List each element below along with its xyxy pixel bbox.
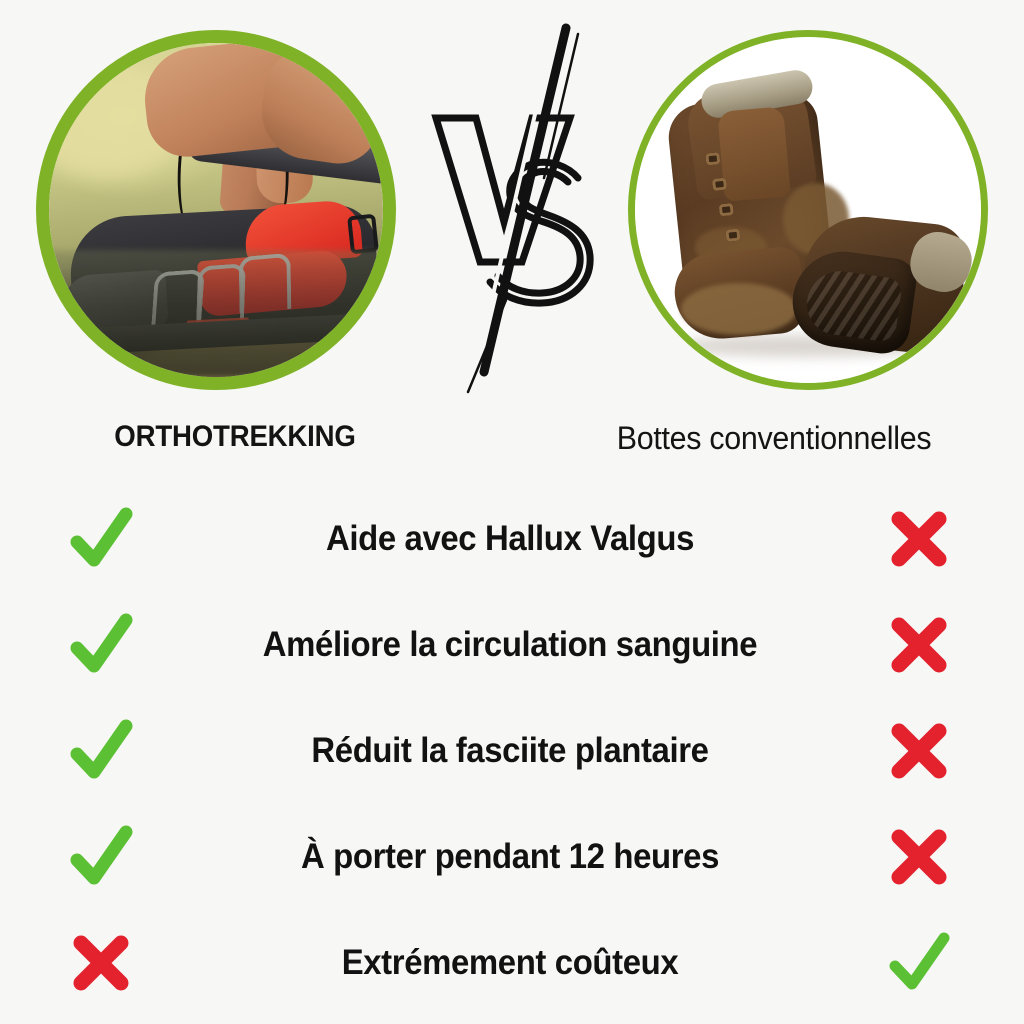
right-mark-cross-icon (876, 496, 962, 582)
table-row: Améliore la circulation sanguine (0, 592, 1024, 698)
right-product-image (628, 30, 988, 390)
left-product-image (36, 30, 396, 390)
left-image-green-ring (36, 30, 396, 390)
table-row: Aide avec Hallux Valgus (0, 486, 1024, 592)
comparison-infographic: ORTHOTREKKING Bottes conventionnelles Ai… (0, 0, 1024, 1024)
right-image-green-ring (628, 30, 988, 390)
feature-label: Extrémement coûteux (166, 943, 854, 983)
right-mark-check-icon (876, 920, 962, 1006)
right-mark-cross-icon (876, 814, 962, 900)
hero-section (0, 0, 1024, 420)
feature-label: Réduit la fasciite plantaire (166, 731, 854, 771)
table-row: Réduit la fasciite plantaire (0, 698, 1024, 804)
right-mark-cross-icon (876, 708, 962, 794)
feature-label: À porter pendant 12 heures (166, 837, 854, 877)
conventional-boots-photo (635, 37, 981, 383)
comparison-rows: Aide avec Hallux Valgus Améliore la circ… (0, 482, 1024, 1022)
header-orthotrekking: ORTHOTREKKING (19, 420, 451, 454)
left-mark-check-icon (58, 496, 144, 582)
feature-label: Aide avec Hallux Valgus (166, 519, 854, 559)
column-headers: ORTHOTREKKING Bottes conventionnelles (0, 420, 1024, 482)
left-mark-check-icon (58, 708, 144, 794)
left-mark-check-icon (58, 602, 144, 688)
feature-label: Améliore la circulation sanguine (166, 625, 854, 665)
left-mark-cross-icon (58, 920, 144, 1006)
vs-badge (418, 0, 608, 400)
left-mark-check-icon (58, 814, 144, 900)
right-mark-cross-icon (876, 602, 962, 688)
table-row: Extrémement coûteux (0, 910, 1024, 1016)
table-row: À porter pendant 12 heures (0, 804, 1024, 910)
orthotrekking-shoe-photo (49, 43, 383, 377)
header-conventional-boots: Bottes conventionnelles (537, 420, 1012, 457)
